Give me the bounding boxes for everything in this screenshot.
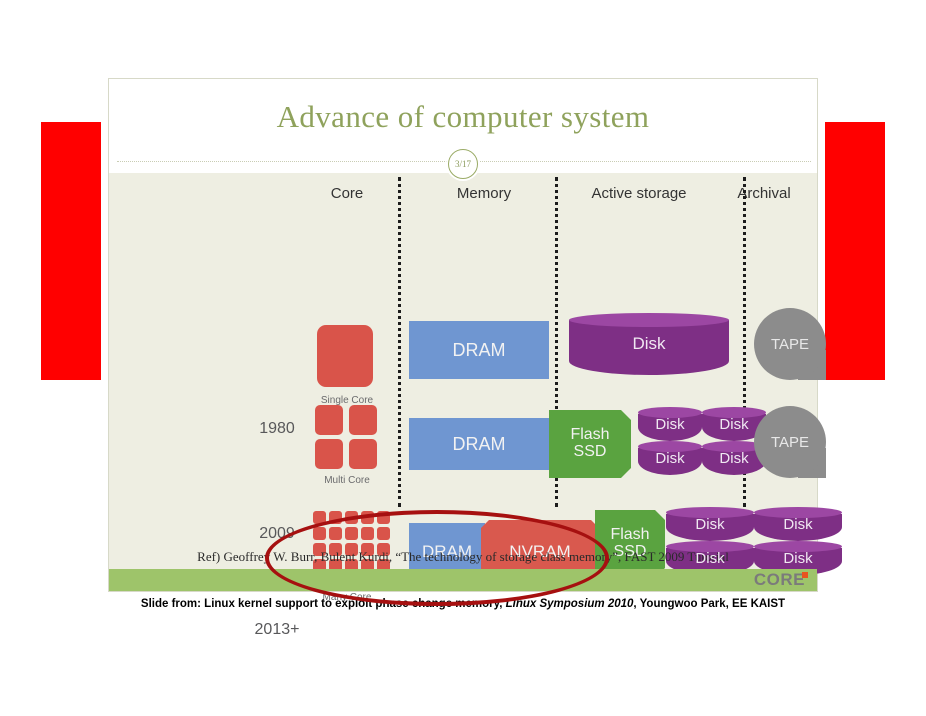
caption-italic: Linux Symposium 2010 (506, 598, 634, 610)
core-cell (313, 527, 326, 540)
disk-label: Disk (569, 313, 729, 375)
page-title: Advance of computer system (109, 99, 817, 135)
memory-block-dram-1980: DRAM (409, 321, 549, 379)
red-bar-left (41, 122, 101, 380)
row-year-1980: 1980 (241, 420, 313, 438)
disk-label: Disk (754, 507, 842, 541)
core-label-multi: Multi Core (292, 475, 402, 486)
disk-cylinder: Disk (754, 541, 842, 575)
disk-cylinder: Disk (638, 441, 702, 475)
row-year-2013: 2013+ (241, 621, 313, 639)
disk-label: Disk (666, 541, 754, 575)
core-cell (329, 527, 342, 540)
red-bar-right (825, 122, 885, 380)
source-caption: Slide from: Linux kernel support to expl… (0, 598, 926, 610)
disk-cylinder: Disk (754, 507, 842, 541)
core-cell (317, 325, 373, 387)
core-cell (345, 527, 358, 540)
core-cell (349, 405, 377, 435)
column-divider-1 (398, 177, 401, 507)
caption-suffix: , Youngwoo Park, EE KAIST (633, 598, 785, 610)
tape-label: TAPE (754, 308, 826, 380)
memory-block-dram-2009: DRAM (409, 418, 549, 470)
flash-label-line1: Flash (570, 427, 609, 444)
core-cell (345, 511, 358, 524)
flash-label-line2: SSD (574, 444, 607, 461)
core-cell (329, 511, 342, 524)
core-cell (315, 439, 343, 469)
core-cell (361, 527, 374, 540)
disk-label: Disk (754, 541, 842, 575)
core-label-single: Single Core (292, 395, 402, 406)
core-cell (377, 527, 390, 540)
core-cell (315, 405, 343, 435)
core-cell (313, 511, 326, 524)
disk-cylinder: Disk (666, 541, 754, 575)
disk-label: Disk (666, 507, 754, 541)
row-year-2009: 2009 (241, 525, 313, 543)
tape-label: TAPE (754, 406, 826, 478)
column-header-archival: Archival (649, 185, 879, 202)
disk-label: Disk (638, 407, 702, 441)
disk-cylinder: Disk (569, 313, 729, 375)
disk-cylinder: Disk (638, 407, 702, 441)
core-cell (361, 511, 374, 524)
slide-screenshot: Advance of computer system 3/17 Core Mem… (0, 0, 926, 716)
core-cell (349, 439, 377, 469)
column-header-core: Core (291, 185, 403, 202)
disk-cylinder: Disk (666, 507, 754, 541)
flash-ssd-block-2013: Flash SSD (595, 510, 665, 578)
core-cell (377, 511, 390, 524)
flash-label-line1: Flash (610, 527, 649, 544)
disk-label: Disk (638, 441, 702, 475)
presentation-slide: Advance of computer system 3/17 Core Mem… (108, 78, 818, 592)
flash-ssd-block-2009: Flash SSD (549, 410, 631, 478)
caption-prefix: Slide from: Linux kernel support to expl… (141, 598, 506, 610)
slide-body: Core Memory Active storage Archival 1980… (109, 173, 817, 553)
